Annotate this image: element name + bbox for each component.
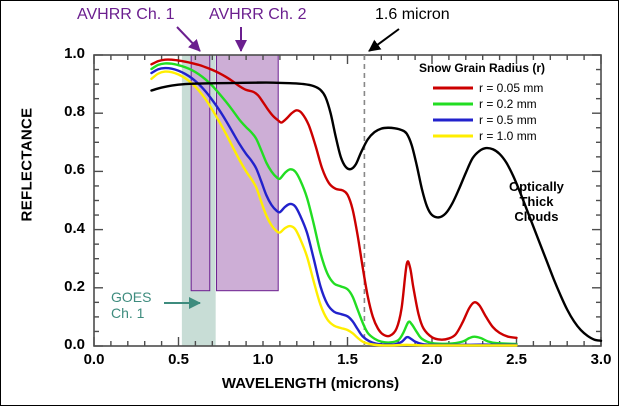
x-tick-label: 2.5 xyxy=(495,351,539,368)
legend-entry-r05: r = 0.5 mm xyxy=(479,113,537,127)
x-tick-label: 1.5 xyxy=(326,351,370,368)
y-tick-label: 0.2 xyxy=(37,278,85,295)
annotation-optically-thick-clouds: Optically Thick Clouds xyxy=(509,179,564,224)
clouds-line-3: Clouds xyxy=(509,209,564,224)
arrow-avhrr-ch1 xyxy=(177,27,200,51)
y-tick-label: 0.8 xyxy=(37,103,85,120)
annotation-avhrr-ch1: AVHRR Ch. 1 xyxy=(77,6,175,24)
goes-line-1: GOES xyxy=(111,289,151,305)
legend-entry-r02: r = 0.2 mm xyxy=(479,97,537,111)
y-tick-label: 0.4 xyxy=(37,220,85,237)
y-tick-label: 1.0 xyxy=(37,45,85,62)
figure-container: AVHRR Ch. 1 AVHRR Ch. 2 1.6 micron GOES … xyxy=(0,0,619,406)
x-tick-label: 3.0 xyxy=(579,351,619,368)
arrow-1-6-micron xyxy=(369,29,399,51)
legend-entry-r10: r = 1.0 mm xyxy=(479,129,537,143)
x-tick-label: 1.0 xyxy=(241,351,285,368)
annotation-avhrr-ch2: AVHRR Ch. 2 xyxy=(209,6,307,24)
x-tick-label: 0.5 xyxy=(157,351,201,368)
legend-title: Snow Grain Radius (r) xyxy=(419,61,545,75)
clouds-line-1: Optically xyxy=(509,179,564,194)
y-tick-label: 0.6 xyxy=(37,161,85,178)
annotation-goes-ch1: GOES Ch. 1 xyxy=(111,289,151,321)
legend-swatches-layer xyxy=(433,88,473,136)
clouds-line-2: Thick xyxy=(509,194,564,209)
x-tick-label: 0.0 xyxy=(72,351,116,368)
annotation-1.6-micron: 1.6 micron xyxy=(375,6,450,24)
x-tick-label: 2.0 xyxy=(410,351,454,368)
y-axis-title: REFLECTANCE xyxy=(19,105,36,225)
band-avhrr-ch-1 xyxy=(191,55,210,291)
legend-entry-r005: r = 0.05 mm xyxy=(479,81,543,95)
x-axis-title: WAVELENGTH (microns) xyxy=(1,375,619,392)
y-tick-label: 0.0 xyxy=(37,336,85,353)
goes-line-2: Ch. 1 xyxy=(111,305,151,321)
